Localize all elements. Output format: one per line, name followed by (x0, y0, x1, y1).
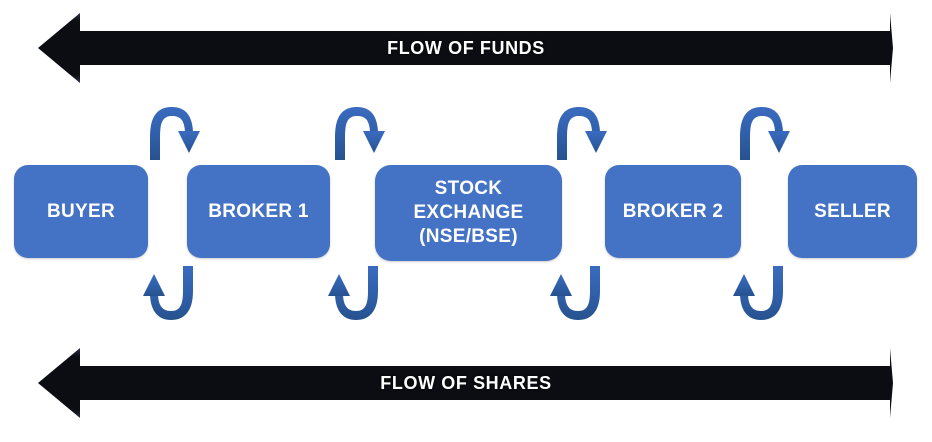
node-stock-exchange-label: STOCK EXCHANGE (NSE/BSE) (407, 177, 529, 248)
node-broker-2-label: BROKER 2 (617, 200, 730, 224)
node-stock-exchange[interactable]: STOCK EXCHANGE (NSE/BSE) (375, 165, 562, 261)
node-broker-1[interactable]: BROKER 1 (187, 165, 330, 258)
curved-arrow-seller-to-broker2 (733, 266, 783, 320)
curved-arrow-exchange-to-broker2 (557, 107, 607, 160)
curved-arrow-exchange-to-broker1 (328, 266, 378, 320)
node-buyer[interactable]: BUYER (14, 165, 148, 258)
node-buyer-label: BUYER (41, 200, 121, 224)
node-seller-label: SELLER (808, 200, 897, 224)
curved-arrow-top-group (150, 107, 790, 160)
flow-of-shares-label: FLOW OF SHARES (380, 373, 551, 394)
flow-diagram: FLOW OF FUNDS FLOW OF SHARES BUYER BROKE… (0, 0, 932, 442)
curved-arrow-bottom-group (143, 266, 783, 320)
curved-arrow-broker2-to-exchange (550, 266, 600, 320)
curved-arrow-broker2-to-seller (740, 107, 790, 160)
curved-arrow-broker1-to-buyer (143, 266, 193, 320)
flow-of-funds-band: FLOW OF FUNDS (0, 5, 932, 91)
flow-of-shares-band: FLOW OF SHARES (0, 340, 932, 426)
node-seller[interactable]: SELLER (788, 165, 917, 258)
node-broker-2[interactable]: BROKER 2 (605, 165, 741, 258)
flow-of-funds-label: FLOW OF FUNDS (387, 38, 545, 59)
curved-arrow-broker1-to-exchange (335, 107, 385, 160)
node-broker-1-label: BROKER 1 (202, 200, 315, 224)
curved-arrow-buyer-to-broker1 (150, 107, 200, 160)
